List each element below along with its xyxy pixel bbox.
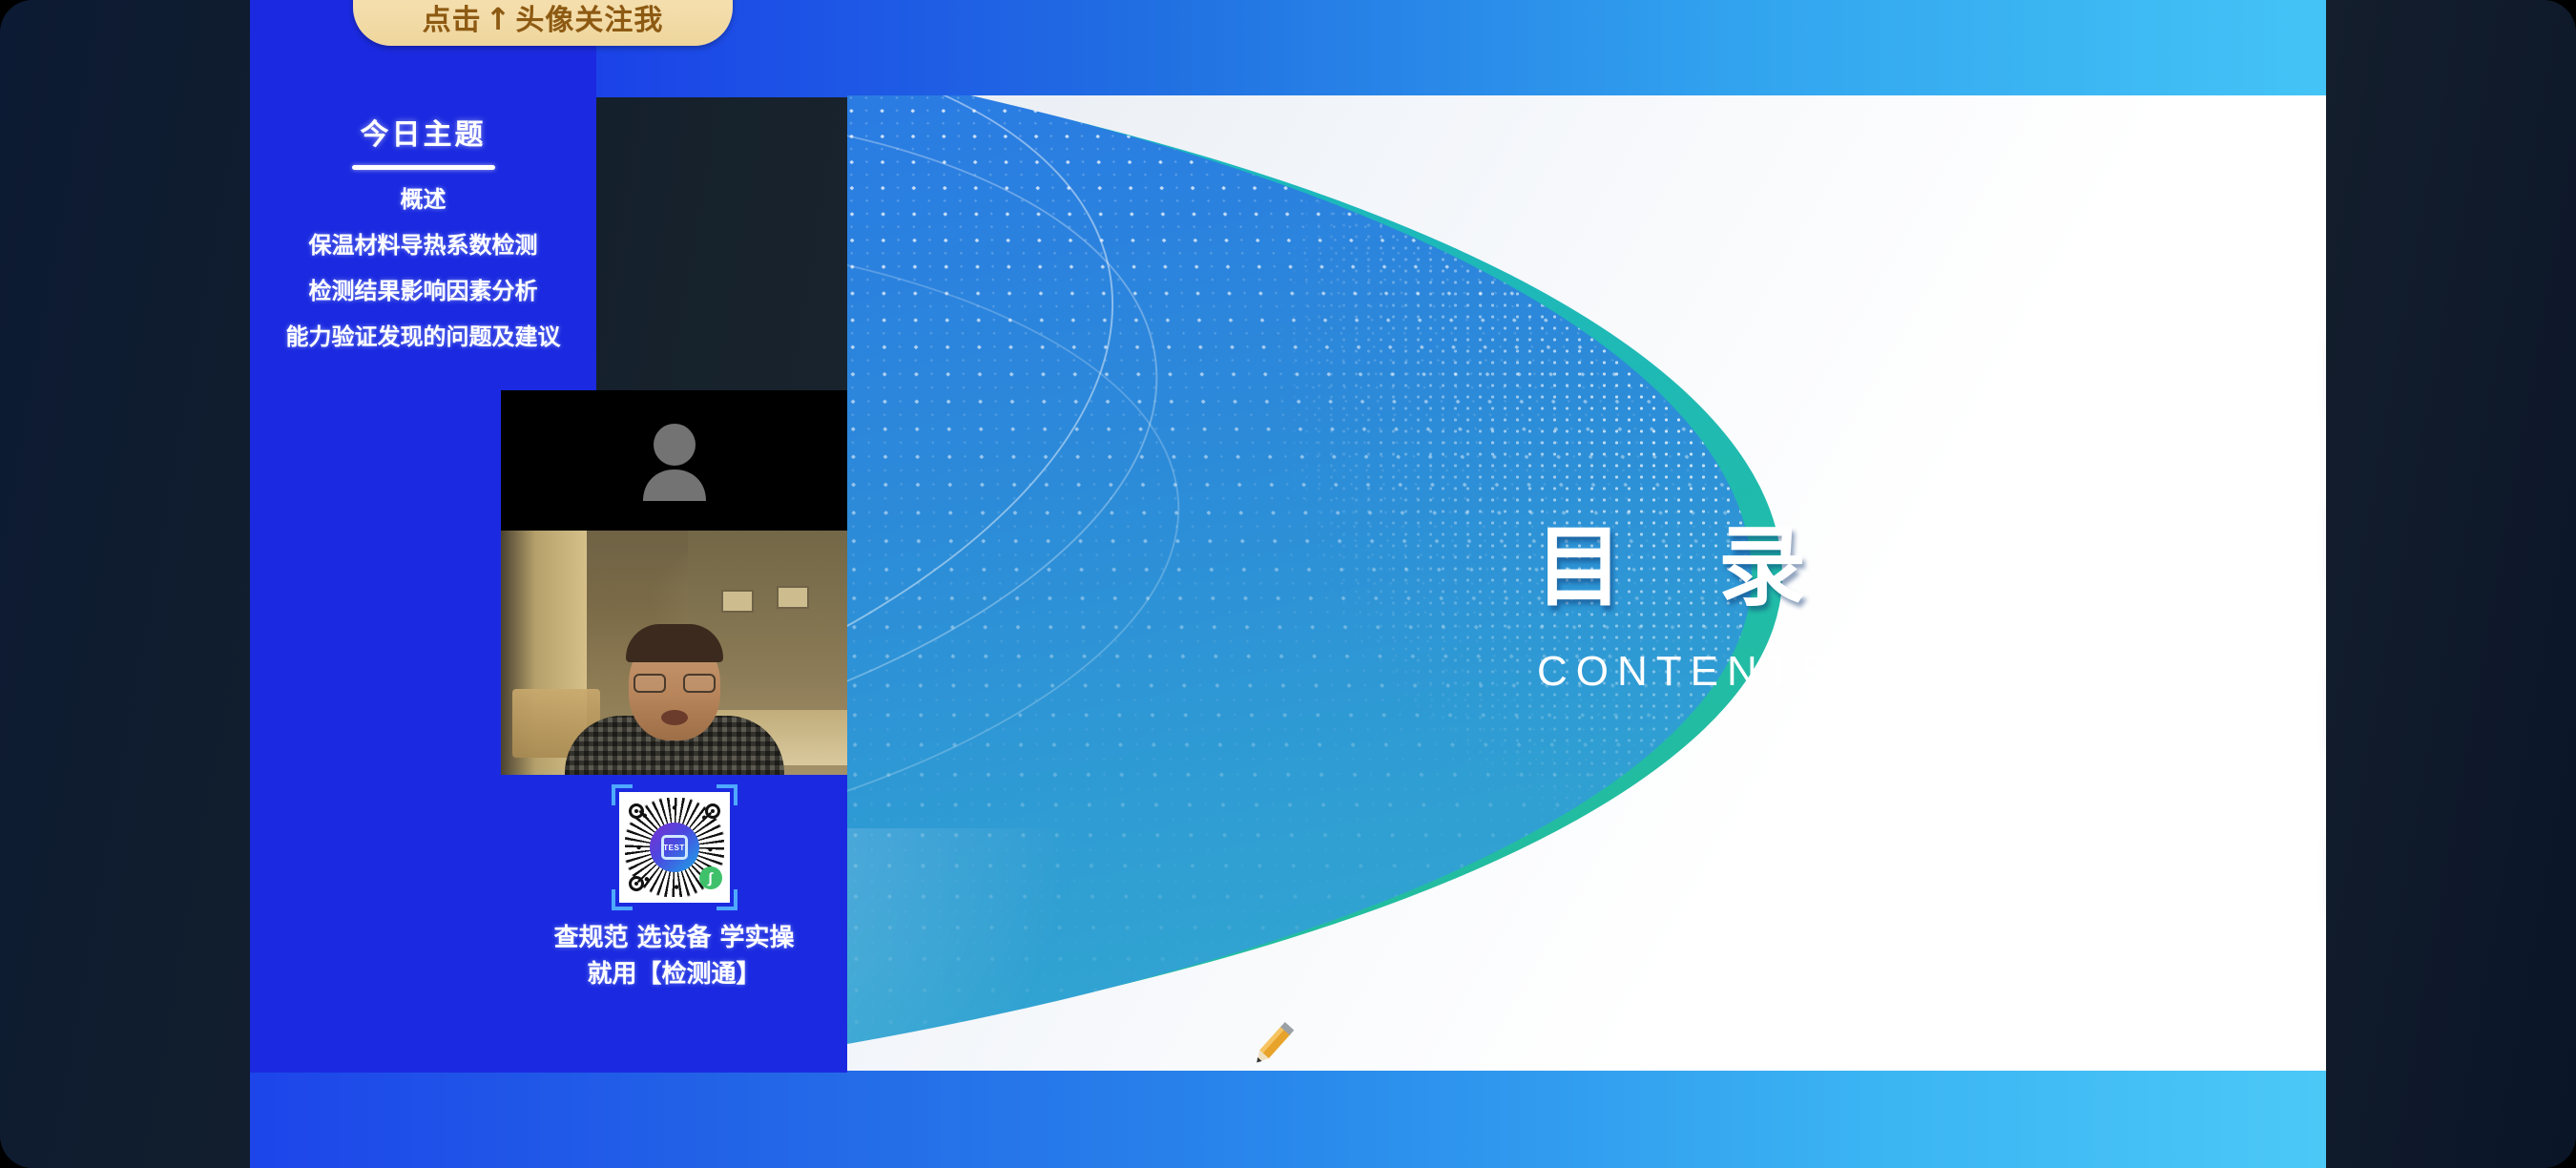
wall-picture-2 — [777, 586, 809, 609]
speaker-glasses — [634, 674, 716, 693]
pencil-cursor-icon[interactable] — [1246, 1017, 1299, 1071]
qr-finder-icon-1 — [629, 803, 644, 819]
follow-me-banner[interactable]: 点击↑头像关注我 — [353, 0, 733, 46]
qr-promo-block: TEST ∫ 查规范 选设备 学实操 就用【检测通】 — [501, 775, 847, 1073]
contents-title-en: CONTENTS — [1381, 648, 1992, 696]
qr-code-image[interactable]: TEST ∫ — [619, 792, 730, 903]
speaker-hair — [626, 624, 723, 662]
qr-logo-text: TEST — [661, 835, 688, 860]
heading-underline — [352, 165, 495, 170]
sidebar-topic-1[interactable]: 概述 — [250, 177, 596, 222]
sidebar-topic-4[interactable]: 能力验证发现的问题及建议 — [250, 314, 596, 360]
qr-finder-icon-2 — [705, 803, 720, 819]
follow-banner-text-before: 点击 — [423, 4, 482, 37]
video-tile-participant-placeholder[interactable] — [501, 390, 847, 531]
video-tile-speaker[interactable] — [501, 531, 847, 775]
contents-title-cn: 目 录 — [1381, 496, 1992, 623]
up-arrow-icon: ↑ — [486, 1, 512, 37]
follow-banner-text-after: 头像关注我 — [515, 4, 663, 37]
qr-caption-line-1: 查规范 选设备 学实操 — [501, 920, 847, 956]
miniprogram-badge-icon: ∫ — [699, 866, 722, 889]
bottom-brand-bar — [250, 1071, 2326, 1168]
sidebar-topic-3[interactable]: 检测结果影响因素分析 — [250, 268, 596, 314]
presentation-slide[interactable]: 目 录 CONTENTS 01 概述 02 保温材料导热系数检测 03 检测结果… — [847, 95, 2326, 1071]
speaker-mouth — [661, 710, 688, 725]
avatar-person-icon — [639, 421, 710, 501]
qr-scan-frame[interactable]: TEST ∫ — [617, 790, 732, 905]
live-stream-stage: 点击↑头像关注我 今日主题 概述 保温材料导热系数检测 检测结果影响因素分析 能… — [250, 0, 2326, 1168]
sidebar-topic-list: 概述 保温材料导热系数检测 检测结果影响因素分析 能力验证发现的问题及建议 — [250, 177, 596, 360]
wall-picture-1 — [721, 590, 754, 613]
qr-caption: 查规范 选设备 学实操 就用【检测通】 — [501, 920, 847, 992]
sidebar-heading: 今日主题 — [250, 111, 596, 153]
bottom-glow — [847, 828, 1124, 1071]
qr-caption-line-2: 就用【检测通】 — [501, 956, 847, 992]
sidebar-topic-2[interactable]: 保温材料导热系数检测 — [250, 222, 596, 268]
sidebar-heading-block: 今日主题 — [250, 111, 596, 170]
qr-center-logo: TEST — [650, 823, 699, 872]
qr-finder-icon-3 — [629, 876, 644, 891]
slide-contents-title: 目 录 CONTENTS — [1381, 496, 1992, 696]
